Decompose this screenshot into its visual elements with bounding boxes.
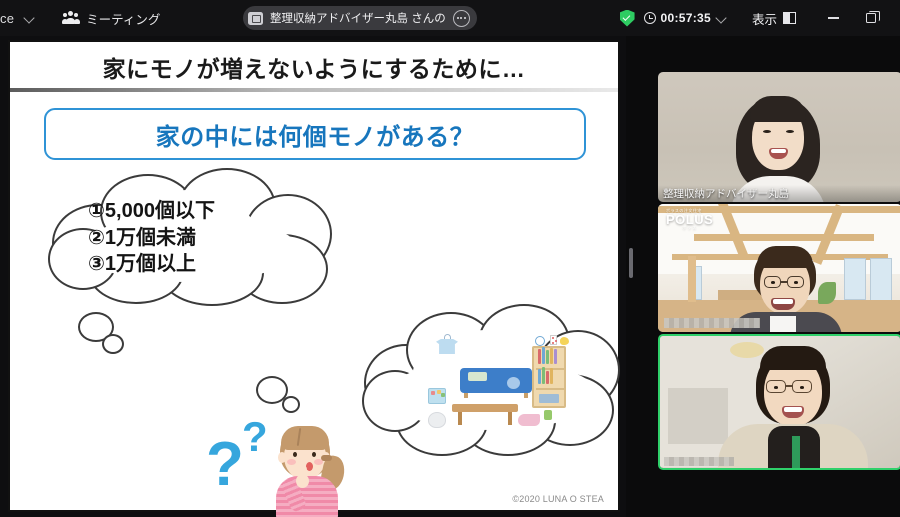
avatar [800, 386, 804, 389]
titlebar-edge [890, 0, 900, 36]
avatar [760, 346, 826, 370]
answer-option: ③1万個以上 [88, 251, 328, 278]
chevron-down-icon[interactable] [716, 12, 728, 24]
sofa-icon [460, 368, 532, 398]
app-name-label: ce [0, 11, 14, 26]
security-shield-icon[interactable] [620, 10, 635, 27]
polus-watermark: ポラスの注文住宅 POLUS ポラス [666, 209, 713, 230]
avatar [771, 149, 786, 153]
green-object-icon [544, 410, 552, 420]
toy-box-icon [428, 388, 446, 404]
video-background [694, 234, 874, 241]
share-pill[interactable]: 整理収納アドバイザー丸島 さんの [243, 6, 477, 30]
clock-object-icon [535, 336, 545, 346]
presentation-slide[interactable]: 家にモノが増えないようにするために… 家の中には何個モノがある？ ①5,000個… [8, 40, 620, 512]
meeting-window: ce ミーティング 整理収納アドバイザー丸島 さんの [0, 0, 900, 517]
dice-icon [550, 335, 557, 345]
polus-watermark-sup: ポラスの注文住宅 [666, 209, 713, 213]
thought-tail-bubble [282, 396, 300, 413]
avatar [774, 386, 778, 389]
titlebar-left-group: ce ミーティング [0, 9, 160, 28]
video-background [844, 258, 866, 300]
blurred-name-bar [664, 457, 734, 466]
answer-options-list: ①5,000個以下 ②1万個未満 ③1万個以上 [88, 198, 328, 278]
video-background [688, 256, 696, 302]
chevron-down-icon[interactable] [24, 12, 36, 24]
meeting-label: ミーティング [86, 9, 160, 28]
room-illustration [422, 332, 582, 432]
question-mark-large-icon: ? [206, 434, 244, 496]
participant-name: 整理収納アドバイザー丸島 [663, 186, 789, 201]
avatar [786, 130, 794, 133]
hanging-clothes-icon [436, 334, 458, 356]
meeting-timer[interactable]: 00:57:35 [644, 11, 728, 25]
blurred-name-bar [664, 318, 760, 328]
video-background [818, 282, 836, 304]
layout-view-icon [783, 12, 796, 24]
avatar [763, 130, 771, 133]
question-box-text: 家の中には何個モノがある？ [156, 117, 475, 152]
titlebar-right-group: 00:57:35 表示 [620, 0, 900, 36]
video-background [668, 388, 728, 444]
avatar [770, 316, 796, 332]
answer-option: ②1万個未満 [88, 225, 328, 252]
avatar [773, 299, 793, 304]
bookshelf-icon [532, 346, 566, 408]
slide-title: 家にモノが増えないようにするために… [10, 50, 618, 84]
avatar [757, 246, 813, 268]
clock-icon [644, 12, 656, 24]
thought-cloud-options: ①5,000個以下 ②1万個未満 ③1万個以上 [48, 168, 338, 313]
view-label: 表示 [752, 9, 777, 28]
polus-watermark-sub: ポラス [666, 226, 713, 230]
more-options-icon[interactable] [453, 10, 470, 27]
participant-name-strip: 整理収納アドバイザー丸島 [658, 185, 900, 202]
answer-option: ①5,000個以下 [88, 198, 328, 225]
avatar [792, 436, 800, 470]
duck-toy-icon [560, 337, 569, 345]
screen-share-icon [248, 12, 263, 25]
avatar [794, 281, 798, 284]
timer-label: 00:57:35 [661, 11, 711, 25]
avatar [784, 407, 802, 412]
avatar [771, 281, 775, 284]
participant-tile-active-speaker[interactable] [658, 334, 900, 470]
panel-divider[interactable] [626, 36, 636, 517]
window-title-bar: ce ミーティング 整理収納アドバイザー丸島 さんの [0, 0, 900, 36]
low-table-icon [452, 404, 518, 426]
toy-icon [518, 414, 540, 426]
participant-tile[interactable]: 整理収納アドバイザー丸島 [658, 72, 900, 202]
screen-share-banner: 整理収納アドバイザー丸島 さんの [243, 6, 477, 30]
participant-tile[interactable]: ポラスの注文住宅 POLUS ポラス [658, 204, 900, 332]
share-title-label: 整理収納アドバイザー丸島 さんの [270, 10, 446, 26]
drag-handle-icon[interactable] [629, 248, 633, 278]
question-mark-small-icon: ? [242, 416, 268, 458]
bag-icon [428, 412, 446, 428]
meeting-menu[interactable]: ミーティング [62, 9, 160, 28]
view-button[interactable]: 表示 [752, 9, 796, 28]
shared-screen-area: 家にモノが増えないようにするために… 家の中には何個モノがある？ ①5,000個… [0, 36, 632, 517]
minimize-button[interactable] [814, 0, 852, 36]
question-box: 家の中には何個モノがある？ [44, 108, 586, 160]
video-background [730, 342, 764, 358]
video-background [870, 258, 892, 302]
thought-cloud-room [362, 304, 624, 464]
participant-video-panel: 整理収納アドバイザー丸島 [636, 36, 900, 517]
maximize-button[interactable] [852, 0, 890, 36]
window-controls [814, 0, 900, 36]
slide-copyright: ©2020 LUNA O STEA [512, 494, 604, 504]
title-divider [10, 88, 618, 92]
avatar [750, 96, 806, 122]
thinking-girl-illustration [268, 422, 354, 517]
thought-tail-bubble [102, 334, 124, 354]
people-icon [62, 11, 79, 25]
